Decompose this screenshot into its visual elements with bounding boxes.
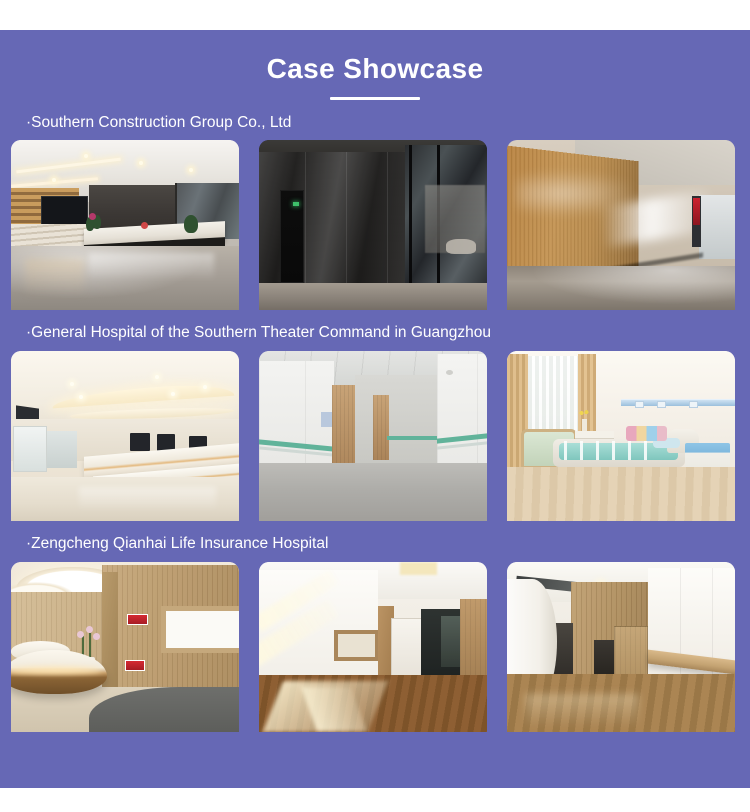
downlight xyxy=(139,161,143,165)
ward-door xyxy=(373,395,389,460)
case-photo[interactable] xyxy=(259,351,487,521)
floor-reflection xyxy=(25,259,84,296)
window-glass xyxy=(441,616,459,667)
wall-outlet xyxy=(657,401,666,408)
case-photo[interactable] xyxy=(507,562,735,732)
gallery-row xyxy=(0,140,750,310)
ceiling-camera xyxy=(446,370,453,375)
elevator-door xyxy=(280,190,305,284)
window xyxy=(699,195,735,260)
title-underline xyxy=(330,97,420,100)
doorway xyxy=(47,431,77,468)
computer-monitor xyxy=(130,433,151,452)
desk-light-strip xyxy=(11,667,102,674)
red-banner xyxy=(693,198,700,225)
downlight xyxy=(52,178,56,182)
photo-scene xyxy=(259,140,487,310)
red-wall-sign xyxy=(127,614,147,625)
case-section: ·Southern Construction Group Co., Ltd xyxy=(0,114,750,311)
case-photo[interactable] xyxy=(11,140,239,310)
gallery-row xyxy=(0,562,750,732)
mid-wall xyxy=(355,375,437,463)
showcase-band: Case Showcase ·Southern Construction Gro… xyxy=(0,30,750,788)
lounge-chair xyxy=(446,239,476,254)
bedside-items xyxy=(626,426,667,441)
case-photo[interactable] xyxy=(11,562,239,732)
glass-door xyxy=(13,426,47,472)
stone-steps xyxy=(11,224,89,248)
vinyl-floor xyxy=(259,463,487,521)
stone-floor xyxy=(259,283,487,310)
handrail xyxy=(387,436,437,440)
plant xyxy=(184,215,198,233)
case-photo[interactable] xyxy=(259,140,487,310)
wall-outlet xyxy=(635,401,644,408)
stone-floor xyxy=(507,266,735,310)
flower xyxy=(141,222,148,229)
flowers xyxy=(578,409,590,417)
wall-outlet xyxy=(689,401,698,408)
downlight xyxy=(189,168,193,172)
case-section: ·Zengcheng Qianhai Life Insurance Hospit… xyxy=(0,535,750,732)
showcase-header: Case Showcase xyxy=(0,30,750,100)
skylight xyxy=(400,562,436,576)
floor-reflection xyxy=(79,487,216,511)
page-title: Case Showcase xyxy=(0,54,750,85)
case-photo[interactable] xyxy=(507,351,735,521)
bed-side-rail xyxy=(564,441,660,460)
wall-niche xyxy=(594,640,615,677)
wood-panel-wall xyxy=(460,599,487,687)
vase xyxy=(582,419,587,431)
downlight xyxy=(84,154,88,158)
case-photo[interactable] xyxy=(11,351,239,521)
red-wall-sign xyxy=(125,660,145,671)
downlight xyxy=(203,385,207,389)
section-heading: ·General Hospital of the Southern Theate… xyxy=(0,324,750,343)
photo-scene xyxy=(507,562,735,732)
floor-light-glow xyxy=(525,694,639,728)
orchid-flower xyxy=(93,633,100,640)
floor-reflection xyxy=(89,253,214,280)
section-heading: ·Zengcheng Qianhai Life Insurance Hospit… xyxy=(0,535,750,554)
photo-scene xyxy=(259,562,487,732)
wall-sign xyxy=(321,412,332,427)
gallery-row xyxy=(0,351,750,521)
photo-scene xyxy=(11,140,239,310)
case-section: ·General Hospital of the Southern Theate… xyxy=(0,324,750,521)
framed-artwork xyxy=(334,630,378,662)
case-photo[interactable] xyxy=(259,562,487,732)
case-photo[interactable] xyxy=(507,140,735,310)
photo-scene xyxy=(507,140,735,310)
downlight xyxy=(171,392,175,396)
downlight xyxy=(70,382,74,386)
exit-sign xyxy=(293,202,299,206)
photo-scene xyxy=(507,351,735,521)
wood-floor xyxy=(507,467,735,521)
photo-scene xyxy=(11,562,239,732)
case-showcase-page: Case Showcase ·Southern Construction Gro… xyxy=(0,0,750,812)
white-door xyxy=(391,618,423,685)
framed-artwork xyxy=(161,606,239,653)
downlight xyxy=(155,375,159,379)
section-heading: ·Southern Construction Group Co., Ltd xyxy=(0,114,750,133)
photo-scene xyxy=(259,351,487,521)
photo-scene xyxy=(11,351,239,521)
over-bed-table xyxy=(575,431,614,438)
